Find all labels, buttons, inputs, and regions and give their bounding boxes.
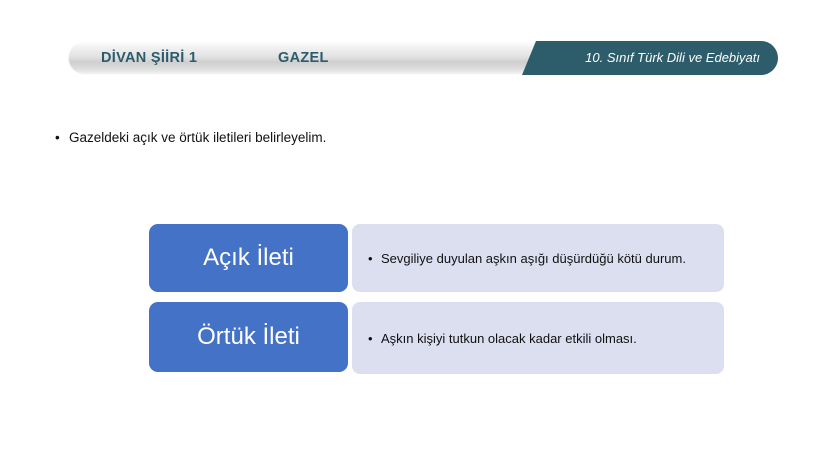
instruction-line: • Gazeldeki açık ve örtük iletileri beli… [55,128,326,147]
bullet-icon: • [368,330,381,347]
banner-course-label: 10. Sınıf Türk Dili ve Edebiyatı [585,41,760,75]
bullet-icon: • [368,250,381,267]
concept-description-text: Sevgiliye duyulan aşkın aşığı düşürdüğü … [381,250,686,267]
banner-subject-title: GAZEL [278,41,329,75]
concept-description-text: Aşkın kişiyi tutkun olacak kadar etkili … [381,330,637,347]
concept-list: Açık İleti • Sevgiliye duyulan aşkın aşı… [149,224,724,374]
concept-description: • Sevgiliye duyulan aşkın aşığı düşürdüğ… [352,250,700,267]
concept-panel-acik-ileti: • Sevgiliye duyulan aşkın aşığı düşürdüğ… [352,224,724,292]
concept-description: • Aşkın kişiyi tutkun olacak kadar etkil… [352,330,651,347]
instruction-text: Gazeldeki açık ve örtük iletileri belirl… [69,128,326,147]
bullet-icon: • [55,128,69,147]
concept-label-ortuk-ileti: Örtük İleti [149,302,348,372]
concept-label-acik-ileti: Açık İleti [149,224,348,292]
concept-row: Açık İleti • Sevgiliye duyulan aşkın aşı… [149,224,724,292]
concept-row: Örtük İleti • Aşkın kişiyi tutkun olacak… [149,302,724,374]
header-banner: DİVAN ŞİİRİ 1 GAZEL 10. Sınıf Türk Dili … [68,41,778,75]
banner-unit-title: DİVAN ŞİİRİ 1 [101,41,197,75]
concept-label-text: Örtük İleti [197,323,300,351]
concept-panel-ortuk-ileti: • Aşkın kişiyi tutkun olacak kadar etkil… [352,302,724,374]
concept-label-text: Açık İleti [203,244,294,272]
